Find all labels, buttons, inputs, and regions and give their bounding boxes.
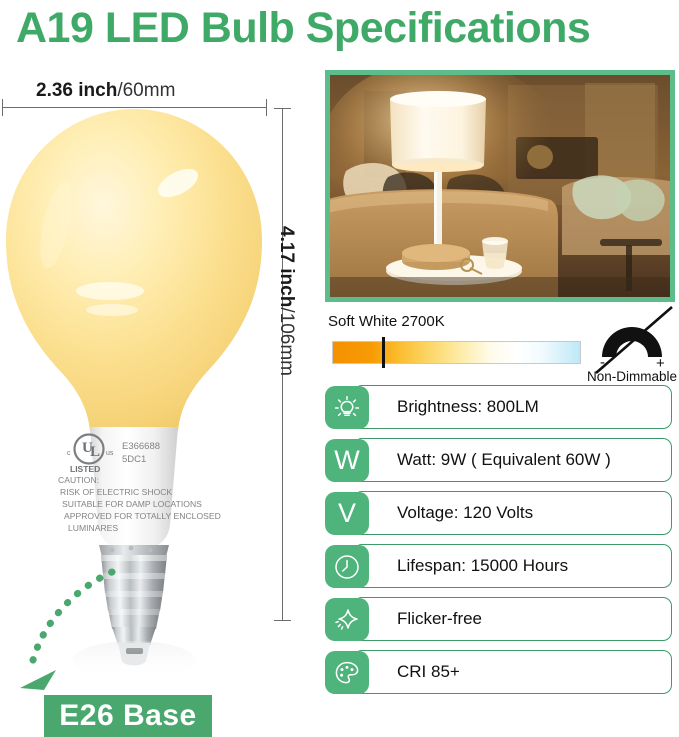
caution-line-3: APPROVED FOR TOTALLY ENCLOSED <box>64 511 221 521</box>
lamp-lifestyle-photo <box>325 70 675 302</box>
height-dimension-mm: /106mm <box>276 307 297 376</box>
non-dimmable-icon: - + <box>586 305 679 375</box>
light-bulb-icon <box>325 386 369 429</box>
spec-row-flicker-free: Flicker-free <box>325 597 679 641</box>
volt-letter-icon: V <box>325 492 369 535</box>
caution-line-1: RISK OF ELECTRIC SHOCK <box>60 487 172 497</box>
spec-row-lifespan: Lifespan: 15000 Hours <box>325 544 679 588</box>
ul-us-label: us <box>106 450 114 457</box>
color-temperature-gradient-bar <box>332 341 581 364</box>
glass-highlight-2 <box>76 282 144 300</box>
ul-file-number: E366688 <box>122 441 160 452</box>
bulb-glass <box>6 109 262 431</box>
width-dimension-inches: 2.36 inch <box>36 80 117 101</box>
spec-label-voltage: Voltage: 120 Volts <box>397 491 533 535</box>
page-title: A19 LED Bulb Specifications <box>16 2 666 54</box>
spec-label-brightness: Brightness: 800LM <box>397 385 539 429</box>
height-tick-top <box>274 108 291 109</box>
spec-list: Brightness: 800LM W Watt: 9W ( Equivalen… <box>325 385 679 703</box>
non-dimmable-label: Non-Dimmable <box>582 369 679 384</box>
spec-row-brightness: Brightness: 800LM <box>325 385 679 429</box>
height-dimension-inches: 4.17 inch <box>276 226 297 307</box>
spec-row-watt: W Watt: 9W ( Equivalent 60W ) <box>325 438 679 482</box>
spec-label-watt: Watt: 9W ( Equivalent 60W ) <box>397 438 611 482</box>
width-dimension-mm: /60mm <box>117 80 175 101</box>
watt-letter: W <box>334 447 359 474</box>
curved-dotted-arrow-icon <box>16 560 126 695</box>
volt-letter: V <box>338 500 356 527</box>
clock-icon <box>325 545 369 588</box>
caution-line-2: SUITABLE FOR DAMP LOCATIONS <box>62 499 202 509</box>
width-dimension-label: 2.36 inch/60mm <box>36 80 175 102</box>
color-temperature-label: Soft White 2700K <box>328 313 445 330</box>
spec-label-flicker-free: Flicker-free <box>397 597 482 641</box>
specifications-panel: Soft White 2700K - + Non-Dimmable <box>320 60 679 693</box>
svg-text:L: L <box>90 444 100 460</box>
caution-title: CAUTION: <box>58 475 99 485</box>
sparkle-star-icon <box>325 598 369 641</box>
spec-row-cri: CRI 85+ <box>325 650 679 694</box>
palette-icon <box>325 651 369 694</box>
ul-control-number: 5DC1 <box>122 454 146 465</box>
ul-c-label: c <box>67 450 71 457</box>
height-dimension-label: 4.17 inch/106mm <box>275 201 297 401</box>
caution-line-4: LUMINARES <box>68 523 118 533</box>
color-temperature-marker <box>382 337 385 368</box>
glass-highlight-3 <box>86 304 138 316</box>
spec-row-voltage: V Voltage: 120 Volts <box>325 491 679 535</box>
spec-label-lifespan: Lifespan: 15000 Hours <box>397 544 568 588</box>
bulb-diagram-panel: 2.36 inch/60mm 4.17 inch/106mm <box>0 60 318 693</box>
e26-base-badge: E26 Base <box>44 695 212 737</box>
ul-listed-label: LISTED <box>70 464 100 474</box>
height-tick-bottom <box>274 620 291 621</box>
watt-letter-icon: W <box>325 439 369 482</box>
spec-label-cri: CRI 85+ <box>397 650 460 694</box>
